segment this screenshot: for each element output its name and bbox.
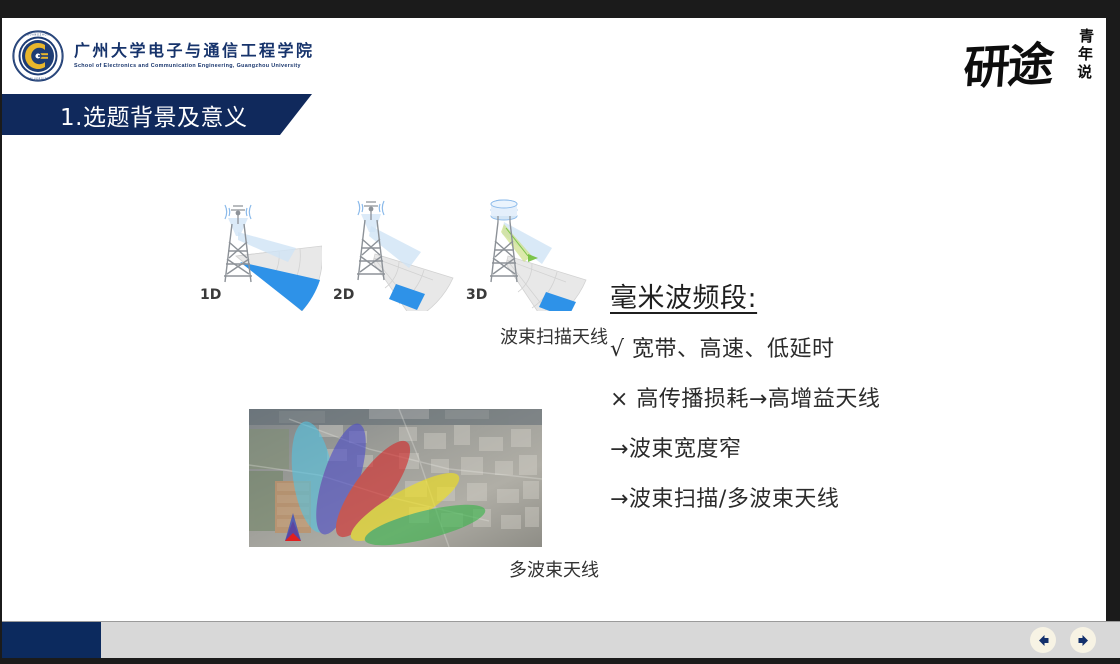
multi-beam-caption-text: 多波束天线 bbox=[509, 560, 599, 581]
content-text-block: 毫米波频段: √ 宽带、高速、低延时 × 高传播损耗→高增益天线 →波束宽度窄 … bbox=[610, 276, 1030, 531]
beam-scan-label-1d: 1D bbox=[200, 287, 221, 303]
letterbox-bottom bbox=[0, 658, 1120, 664]
player-toolbar bbox=[2, 621, 1120, 658]
arrow-left-icon bbox=[1036, 633, 1051, 648]
content-line-1: √ 宽带、高速、低延时 bbox=[610, 331, 1030, 363]
slide-header: G U A N G Z H O U U N I V E R S I T Y 广州… bbox=[2, 18, 1106, 88]
progress-bar[interactable] bbox=[2, 622, 101, 658]
section-title-text: 1.选题背景及意义 bbox=[60, 98, 247, 132]
content-line-3: →波束宽度窄 bbox=[610, 431, 1030, 463]
content-line-2: × 高传播损耗→高增益天线 bbox=[610, 381, 1030, 413]
calligraphy-sub-text: 青年说 bbox=[1074, 27, 1098, 82]
multi-beam-figure bbox=[249, 409, 542, 547]
calligraphy-main-text: 研途 bbox=[961, 28, 1054, 99]
multi-beam-caption: 多波束天线 bbox=[2, 556, 1106, 582]
section-title-banner: 1.选题背景及意义 bbox=[2, 94, 312, 135]
beam-scan-item-1d: 1D bbox=[192, 196, 322, 311]
slide-canvas: G U A N G Z H O U U N I V E R S I T Y 广州… bbox=[2, 18, 1106, 622]
guangzhou-university-seal-icon: G U A N G Z H O U U N I V E R S I T Y bbox=[12, 30, 64, 82]
university-name-en: School of Electronics and Communication … bbox=[74, 63, 315, 69]
previous-slide-button[interactable] bbox=[1030, 627, 1056, 653]
svg-text:U N I V E R S I T Y: U N I V E R S I T Y bbox=[27, 78, 49, 81]
beam-scan-label-2d: 2D bbox=[333, 287, 354, 303]
next-slide-button[interactable] bbox=[1070, 627, 1096, 653]
beam-scan-item-3d: 3D bbox=[458, 196, 588, 311]
university-name-block: 广州大学电子与通信工程学院 School of Electronics and … bbox=[74, 42, 315, 70]
svg-text:G U A N G Z H O U: G U A N G Z H O U bbox=[27, 33, 49, 36]
beam-scan-caption-text: 波束扫描天线 bbox=[500, 327, 608, 348]
arrow-right-icon bbox=[1076, 633, 1091, 648]
beam-scan-label-3d: 3D bbox=[466, 287, 487, 303]
brand-calligraphy: 研途 青年说 bbox=[958, 24, 1098, 98]
letterbox-right bbox=[1106, 0, 1120, 664]
content-line-4: →波束扫描/多波束天线 bbox=[610, 481, 1030, 513]
university-name-cn: 广州大学电子与通信工程学院 bbox=[74, 42, 315, 60]
beam-scan-figure: 1D bbox=[192, 196, 592, 311]
content-heading: 毫米波频段: bbox=[610, 276, 1030, 315]
beam-scan-item-2d: 2D bbox=[325, 196, 455, 311]
letterbox-top bbox=[0, 0, 1120, 18]
aerial-photo-image bbox=[249, 409, 542, 547]
university-branding: G U A N G Z H O U U N I V E R S I T Y 广州… bbox=[12, 30, 315, 82]
presentation-viewport: G U A N G Z H O U U N I V E R S I T Y 广州… bbox=[0, 0, 1120, 664]
